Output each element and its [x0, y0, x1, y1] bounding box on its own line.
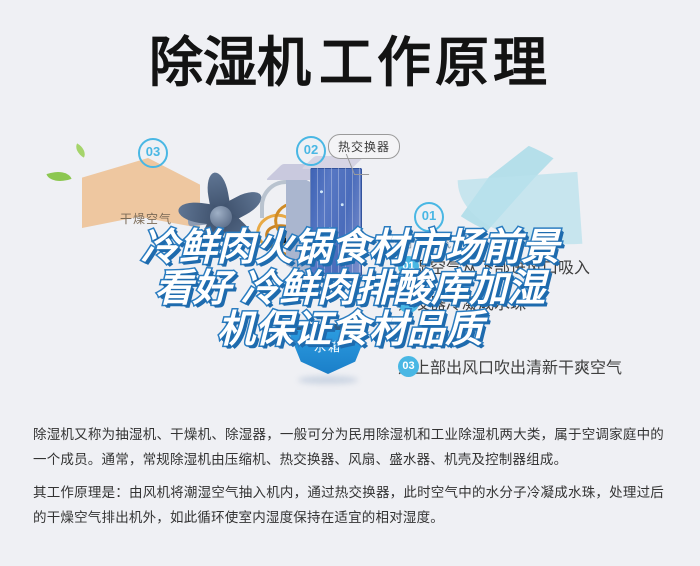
promo-headline-line2: 看好 冷鲜肉排酸库加湿 [0, 269, 700, 310]
diagram-badge-03: 03 [138, 138, 168, 168]
body-paragraph-2: 其工作原理是：由风机将潮湿空气抽入机内，通过热交换器，此时空气中的水分子冷凝成水… [0, 480, 700, 530]
promo-headline-overlay: 冷鲜肉火锅食材市场前景 看好 冷鲜肉排酸库加湿 机保证食材品质 [0, 228, 700, 351]
infographic-page: 除湿机工作原理 干燥空气 [0, 0, 700, 566]
dry-air-label: 干燥空气 [120, 210, 172, 227]
page-title-part2: 工作原理 [311, 33, 551, 93]
body-paragraph-1: 除湿机又称为抽湿机、干燥机、除湿器，一般可分为民用除湿机和工业除湿机两大类，属于… [0, 422, 700, 472]
legend-text-03: 从上部出风口吹出清新干爽空气 [398, 354, 622, 378]
leaf-icon [46, 167, 71, 187]
water-tank-shadow [298, 376, 358, 384]
heat-exchanger-callout: 热交换器 [328, 134, 400, 159]
diagram-badge-02: 02 [296, 136, 326, 166]
legend-item: 03 从上部出风口吹出清新干爽空气 [398, 354, 622, 378]
leaf-icon [73, 143, 89, 157]
page-title: 除湿机工作原理 [0, 28, 700, 98]
promo-headline-line1: 冷鲜肉火锅食材市场前景 [0, 228, 700, 269]
header: 除湿机工作原理 [0, 0, 700, 122]
fan-hub [210, 206, 232, 228]
page-title-part1: 除湿机 [149, 33, 311, 93]
legend-badge-03: 03 [398, 356, 419, 377]
promo-headline-line3: 机保证食材品质 [0, 310, 700, 351]
